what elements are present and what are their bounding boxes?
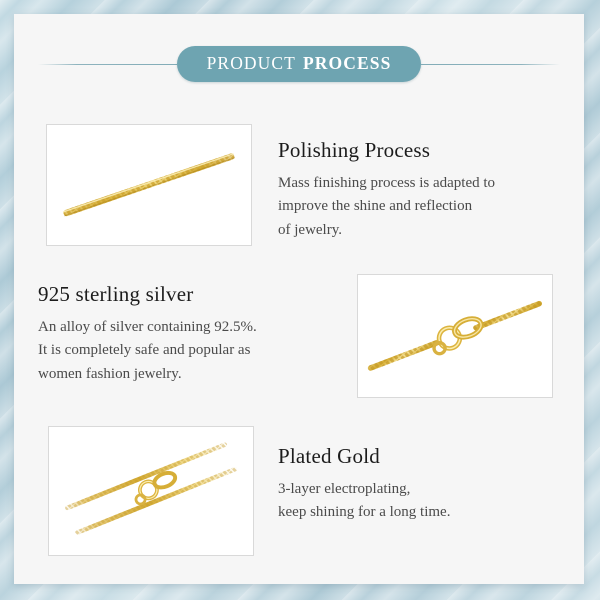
banner-word-process: PROCESS [303, 53, 391, 73]
text-block-polishing: Polishing Process Mass finishing process… [278, 138, 578, 242]
body-line: It is completely safe and popular as [38, 339, 358, 362]
chain-image-2 [358, 275, 552, 397]
text-block-sterling-silver: 925 sterling silver An alloy of silver c… [38, 282, 358, 386]
body-line: Mass finishing process is adapted to [278, 172, 578, 195]
banner-rule-right [421, 64, 560, 65]
body-line: women fashion jewelry. [38, 363, 358, 386]
chain-image-3 [49, 427, 253, 555]
content-card: PRODUCTPROCESS [14, 14, 584, 584]
heading-sterling-silver: 925 sterling silver [38, 282, 358, 307]
banner-rule-left [38, 64, 177, 65]
banner-word-product: PRODUCT [207, 53, 296, 73]
photo-polishing-process [46, 124, 252, 246]
body-line: 3-layer electroplating, [278, 478, 578, 501]
body-line: improve the shine and reflection [278, 195, 578, 218]
photo-plated-gold [48, 426, 254, 556]
body-plated-gold: 3-layer electroplating, keep shining for… [278, 478, 578, 525]
heading-plated-gold: Plated Gold [278, 444, 578, 469]
banner-pill: PRODUCTPROCESS [177, 46, 422, 82]
text-block-plated-gold: Plated Gold 3-layer electroplating, keep… [278, 444, 578, 525]
body-line: An alloy of silver containing 92.5%. [38, 316, 358, 339]
body-sterling-silver: An alloy of silver containing 92.5%. It … [38, 316, 358, 386]
photo-chain-clasp [357, 274, 553, 398]
heading-polishing: Polishing Process [278, 138, 578, 163]
body-line: keep shining for a long time. [278, 501, 578, 524]
body-polishing: Mass finishing process is adapted to imp… [278, 172, 578, 242]
section-banner: PRODUCTPROCESS [14, 40, 584, 88]
chain-image-1 [47, 125, 251, 245]
poster-page: PRODUCTPROCESS [0, 0, 600, 600]
body-line: of jewelry. [278, 219, 578, 242]
